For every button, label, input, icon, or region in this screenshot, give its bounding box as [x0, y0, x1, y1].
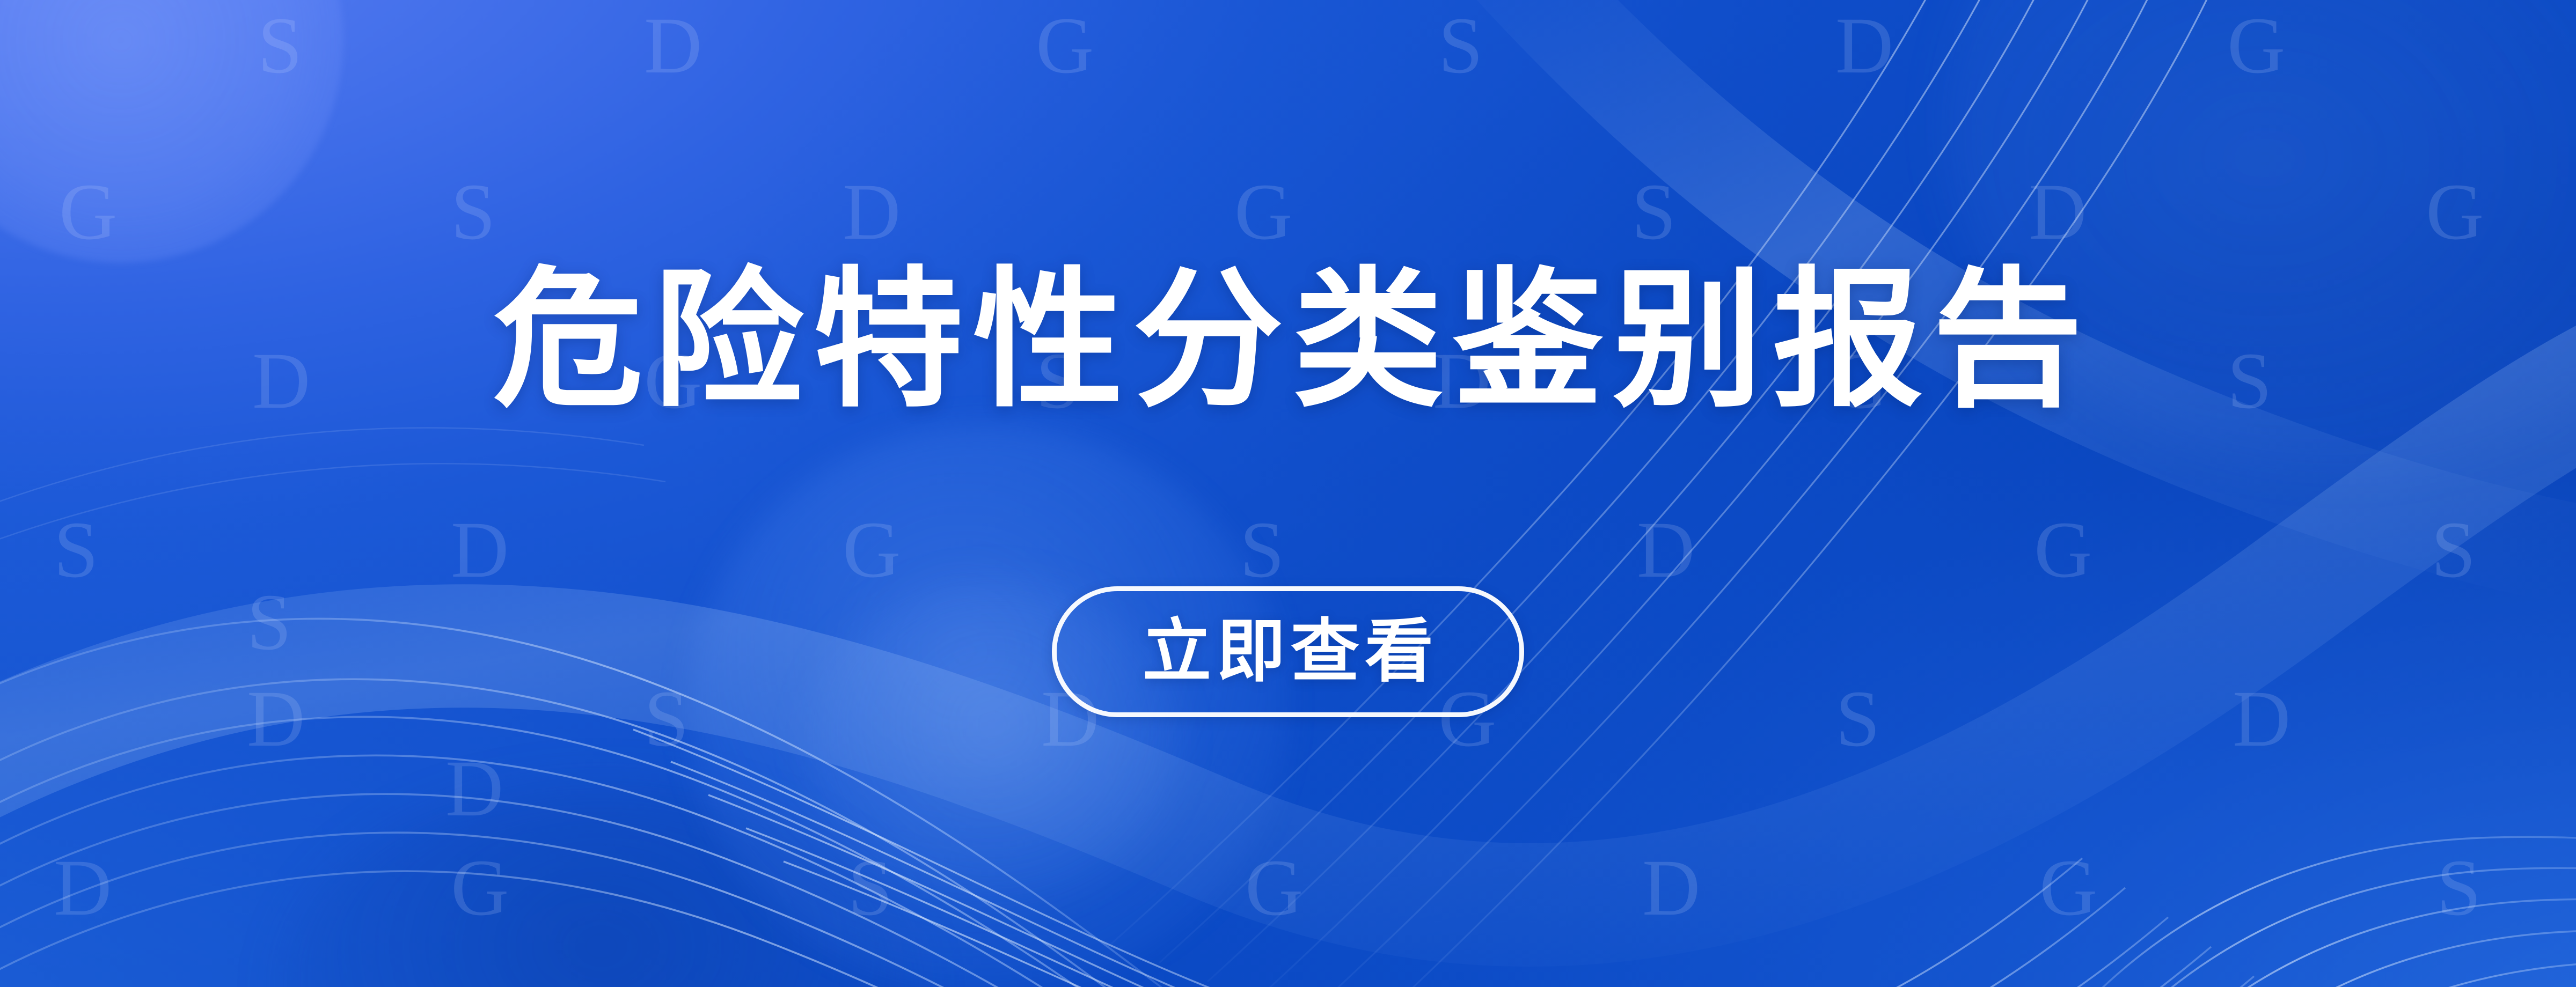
- view-now-button[interactable]: 立即查看: [1052, 586, 1524, 717]
- hazard-report-banner: SDGSDGGSDGSDGDGSDGSSDGSDGSSDSDGSDDDGSGDG…: [0, 0, 2576, 987]
- cta-container: 立即查看: [0, 586, 2576, 717]
- banner-content: 危险特性分类鉴别报告 立即查看: [0, 0, 2576, 987]
- page-title: 危险特性分类鉴别报告: [0, 252, 2576, 429]
